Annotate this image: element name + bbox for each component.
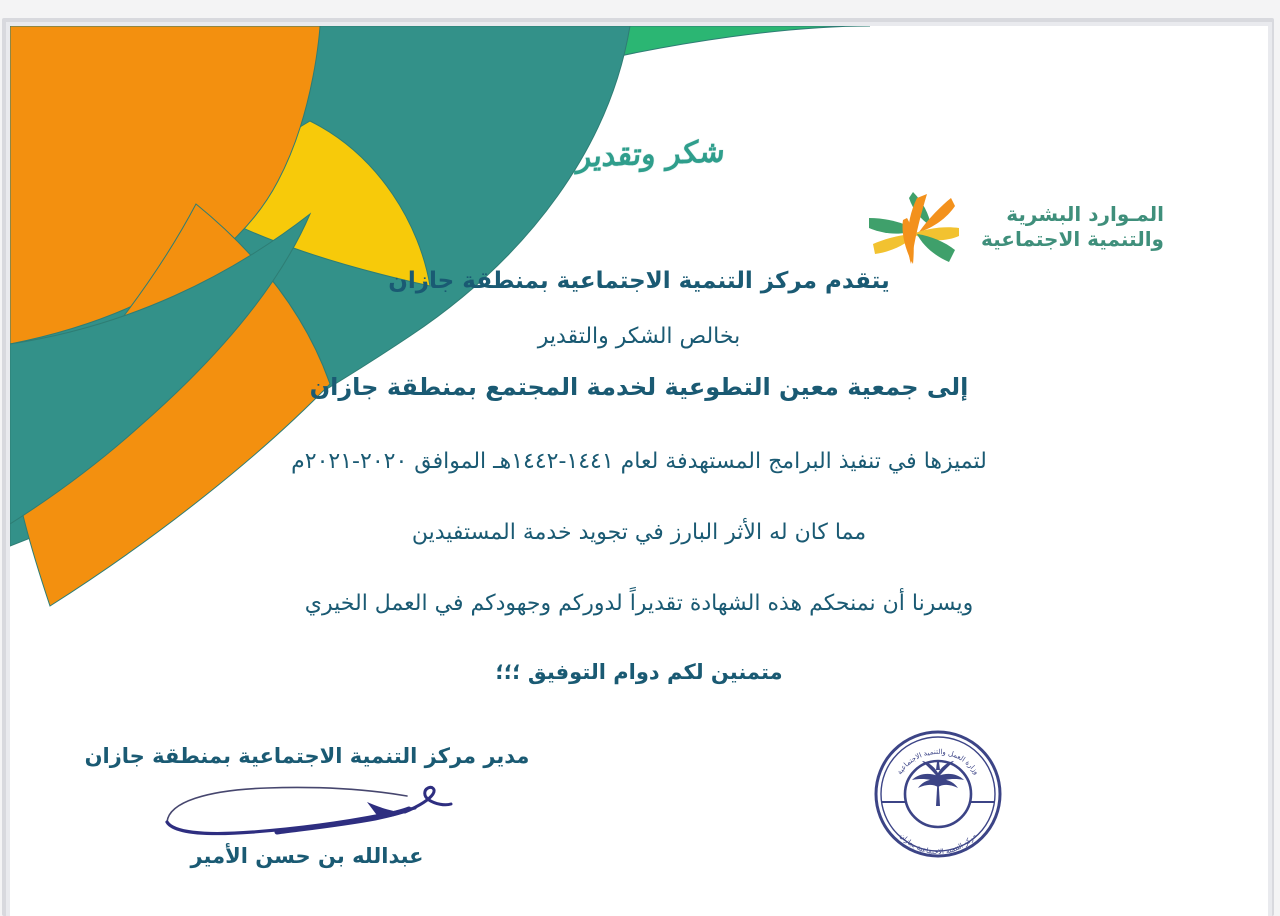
deco-yellow-sliver: [195, 121, 430, 286]
certificate-page: شكر وتقدير المـوارد البشرية والتنمية الا…: [10, 26, 1268, 916]
svg-text:مركز التنمية الاجتماعية بجازان: مركز التنمية الاجتماعية بجازان: [898, 832, 978, 856]
saudi-hrsd-palm-mark-icon: [855, 184, 967, 270]
body-line-4: لتميزها في تنفيذ البرامج المستهدفة لعام …: [10, 449, 1268, 474]
signatory-title: مدير مركز التنمية الاجتماعية بمنطقة جازا…: [72, 744, 542, 768]
body-line-5: مما كان له الأثر البارز في تجويد خدمة ال…: [10, 520, 1268, 545]
body-line-3: إلى جمعية معين التطوعية لخدمة المجتمع بم…: [10, 373, 1268, 401]
calligraphy-text: شكر وتقدير: [563, 119, 738, 189]
body-line-7: متمنين لكم دوام التوفيق ؛؛؛: [10, 660, 1268, 684]
body-line-1: يتقدم مركز التنمية الاجتماعية بمنطقة جاز…: [10, 268, 1268, 294]
seal-text-bottom: مركز التنمية الاجتماعية بجازان: [898, 832, 978, 856]
ministry-logo-line1: المـوارد البشرية: [981, 202, 1164, 227]
signatory-name: عبدالله بن حسن الأمير: [72, 844, 542, 868]
ministry-logo: المـوارد البشرية والتنمية الاجتماعية: [855, 184, 1164, 270]
ministry-logo-line2: والتنمية الاجتماعية: [981, 227, 1164, 252]
body-line-2: بخالص الشكر والتقدير: [10, 324, 1268, 349]
handwritten-signature-icon: [157, 782, 457, 838]
certificate-body: يتقدم مركز التنمية الاجتماعية بمنطقة جاز…: [10, 268, 1268, 684]
calligraphy-ornament: شكر وتقدير: [566, 122, 736, 186]
certificate-viewport: شكر وتقدير المـوارد البشرية والتنمية الا…: [0, 0, 1280, 916]
body-line-6: ويسرنا أن نمنحكم هذه الشهادة تقديراً لدو…: [10, 591, 1268, 616]
official-stamp-icon: وزارة العمل والتنمية الاجتماعية مركز الت…: [872, 728, 1004, 860]
ministry-logo-wordmark: المـوارد البشرية والتنمية الاجتماعية: [981, 202, 1164, 252]
signature-block: مدير مركز التنمية الاجتماعية بمنطقة جازا…: [72, 744, 542, 868]
